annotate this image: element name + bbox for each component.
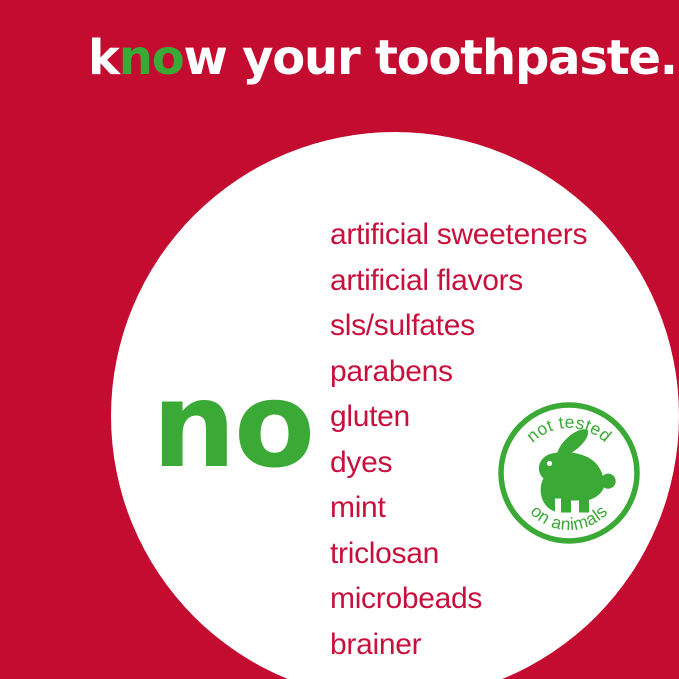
list-item: sls/sulfates (330, 303, 587, 349)
list-item: artificial sweeteners (330, 212, 587, 258)
list-item: artificial flavors (330, 258, 587, 304)
list-item: microbeads (330, 576, 587, 622)
cruelty-free-badge: not tested on animals (497, 401, 641, 545)
headline-part-two: w your toothpaste. (183, 30, 676, 86)
headline-part-one: k (88, 30, 119, 86)
list-item: brainer (330, 622, 587, 668)
poster-canvas: know your toothpaste. no artificial swee… (0, 0, 679, 679)
big-no-word: no (152, 366, 313, 484)
page-title: know your toothpaste. (88, 34, 677, 82)
list-item: parabens (330, 349, 587, 395)
headline-highlight: no (119, 30, 184, 86)
